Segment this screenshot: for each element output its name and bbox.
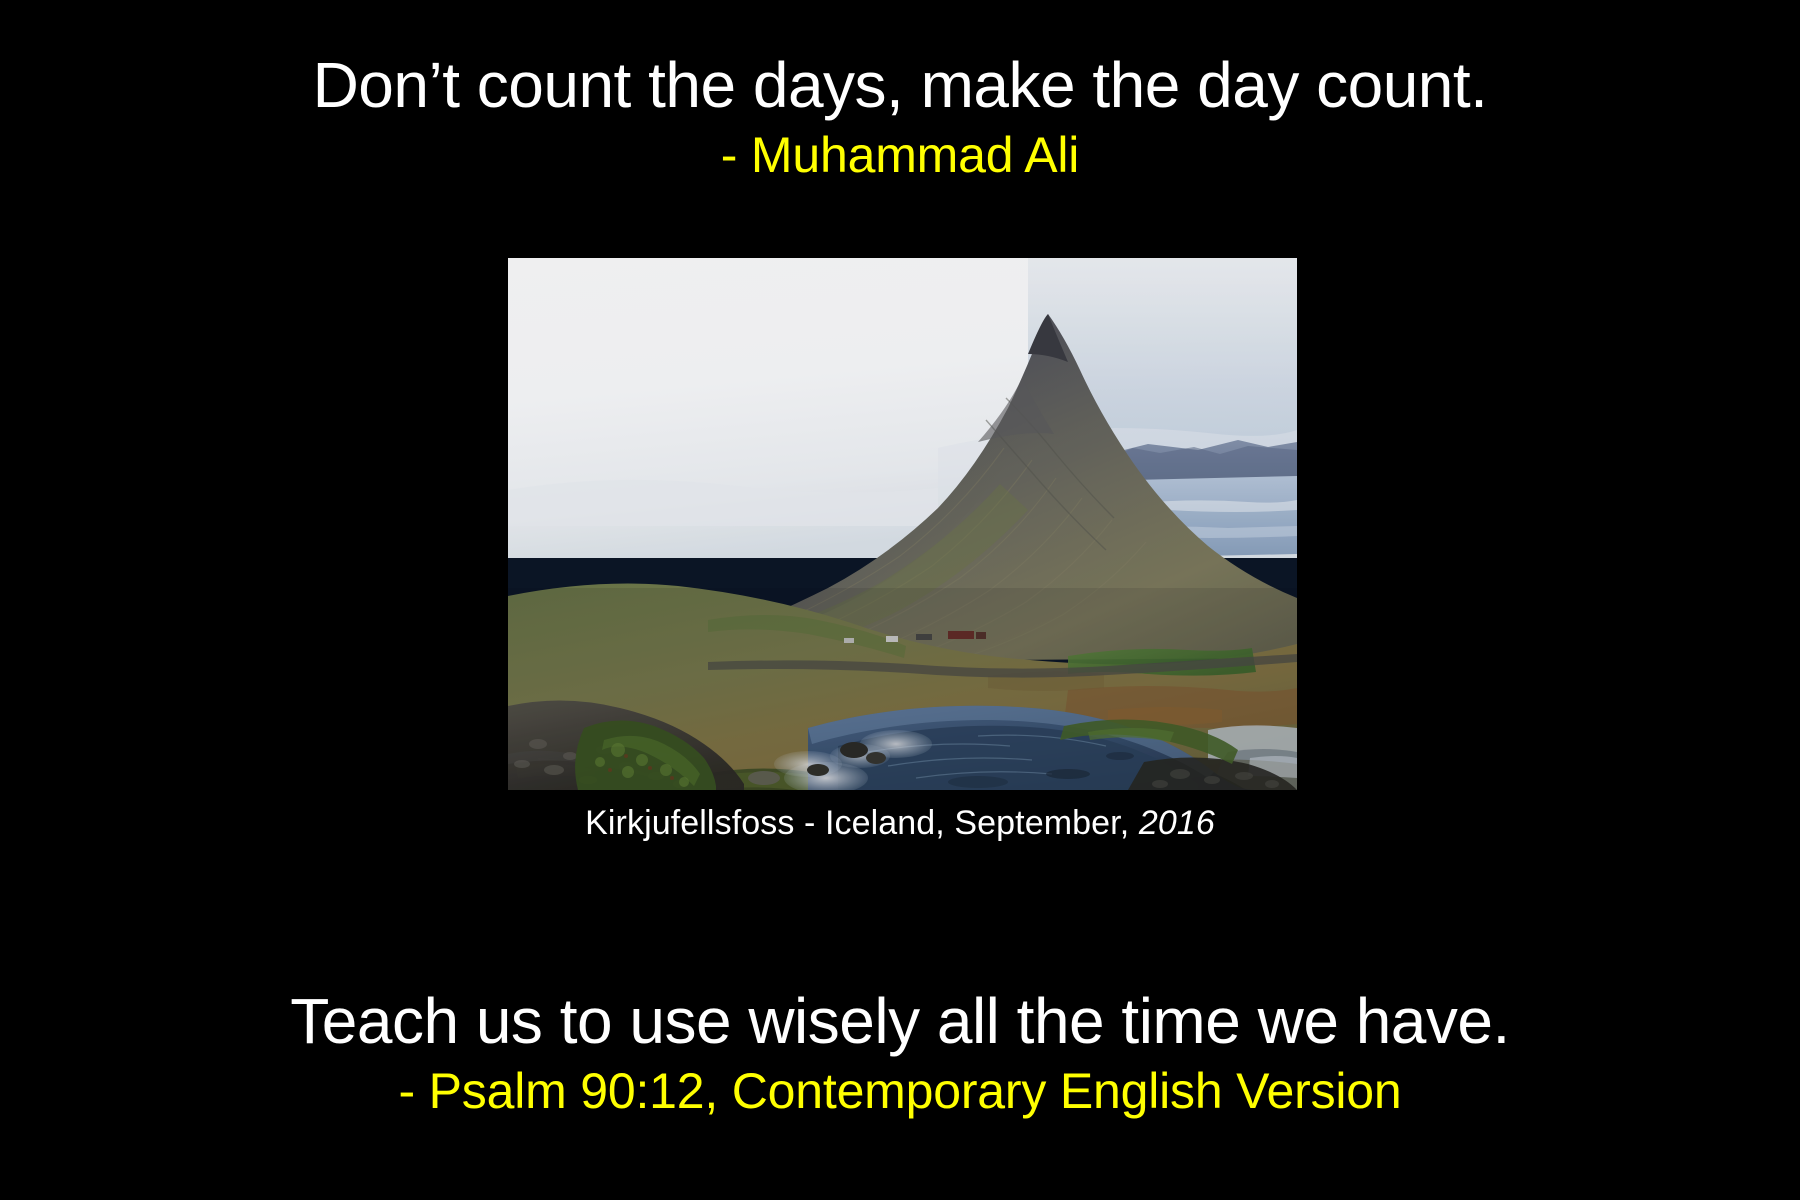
photo-frame xyxy=(508,258,1297,790)
bottom-quote-text: Teach us to use wisely all the time we h… xyxy=(0,988,1800,1055)
top-quote-text: Don’t count the days, make the day count… xyxy=(0,52,1800,119)
top-quote-attribution: - Muhammad Ali xyxy=(0,127,1800,183)
photo-caption-year: 2016 xyxy=(1139,804,1215,842)
bottom-quote-attribution: - Psalm 90:12, Contemporary English Vers… xyxy=(0,1063,1800,1119)
kirkjufellsfoss-waterfall-photo xyxy=(508,258,1297,790)
top-quote-block: Don’t count the days, make the day count… xyxy=(0,52,1800,183)
slide-canvas: Don’t count the days, make the day count… xyxy=(0,0,1800,1200)
bottom-quote-block: Teach us to use wisely all the time we h… xyxy=(0,988,1800,1119)
photo-caption-place: Kirkjufellsfoss - Iceland, September, xyxy=(585,804,1139,842)
photo-caption: Kirkjufellsfoss - Iceland, September, 20… xyxy=(0,804,1800,843)
